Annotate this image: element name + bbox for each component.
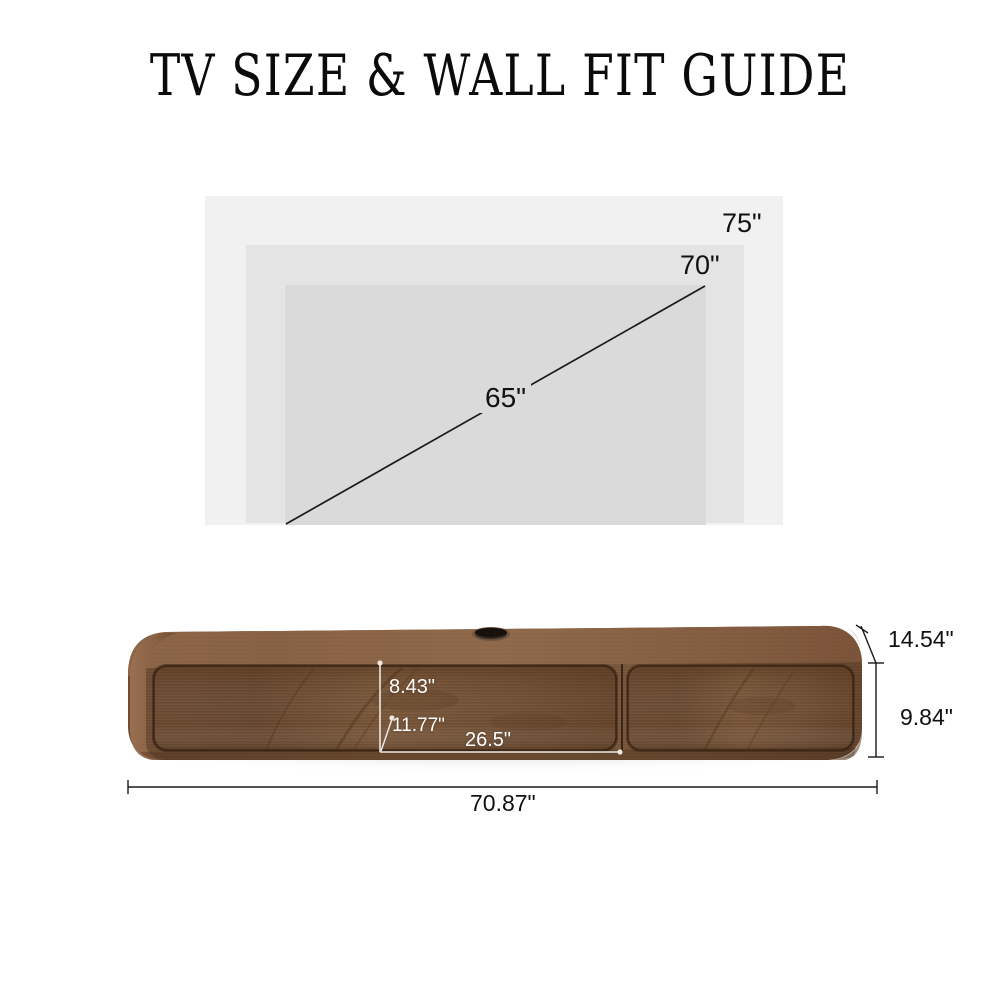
dim-leader-depth: [861, 626, 876, 663]
infographic-canvas: TV SIZE & WALL FIT GUIDE 75" 70" 65": [0, 0, 1000, 1000]
drawer-front-right: [626, 664, 855, 760]
dim-tick-depth: [856, 625, 868, 633]
dimension-label-drawer-height: 8.43": [389, 676, 435, 699]
dimension-label-depth: 14.54": [888, 626, 954, 652]
drawer-front-left: [152, 664, 618, 760]
cable-hole-icon: [472, 627, 510, 641]
console-svg: [0, 0, 1000, 1000]
dimension-label-height: 9.84": [900, 704, 953, 730]
dimension-label-drawer-width: 26.5": [465, 729, 511, 752]
dimension-label-width: 70.87": [470, 790, 536, 816]
product-illustration: 14.54" 9.84" 70.87" 8.43" 11.77" 26.5": [0, 0, 1000, 1000]
dimension-label-drawer-diagonal: 11.77": [392, 714, 445, 737]
